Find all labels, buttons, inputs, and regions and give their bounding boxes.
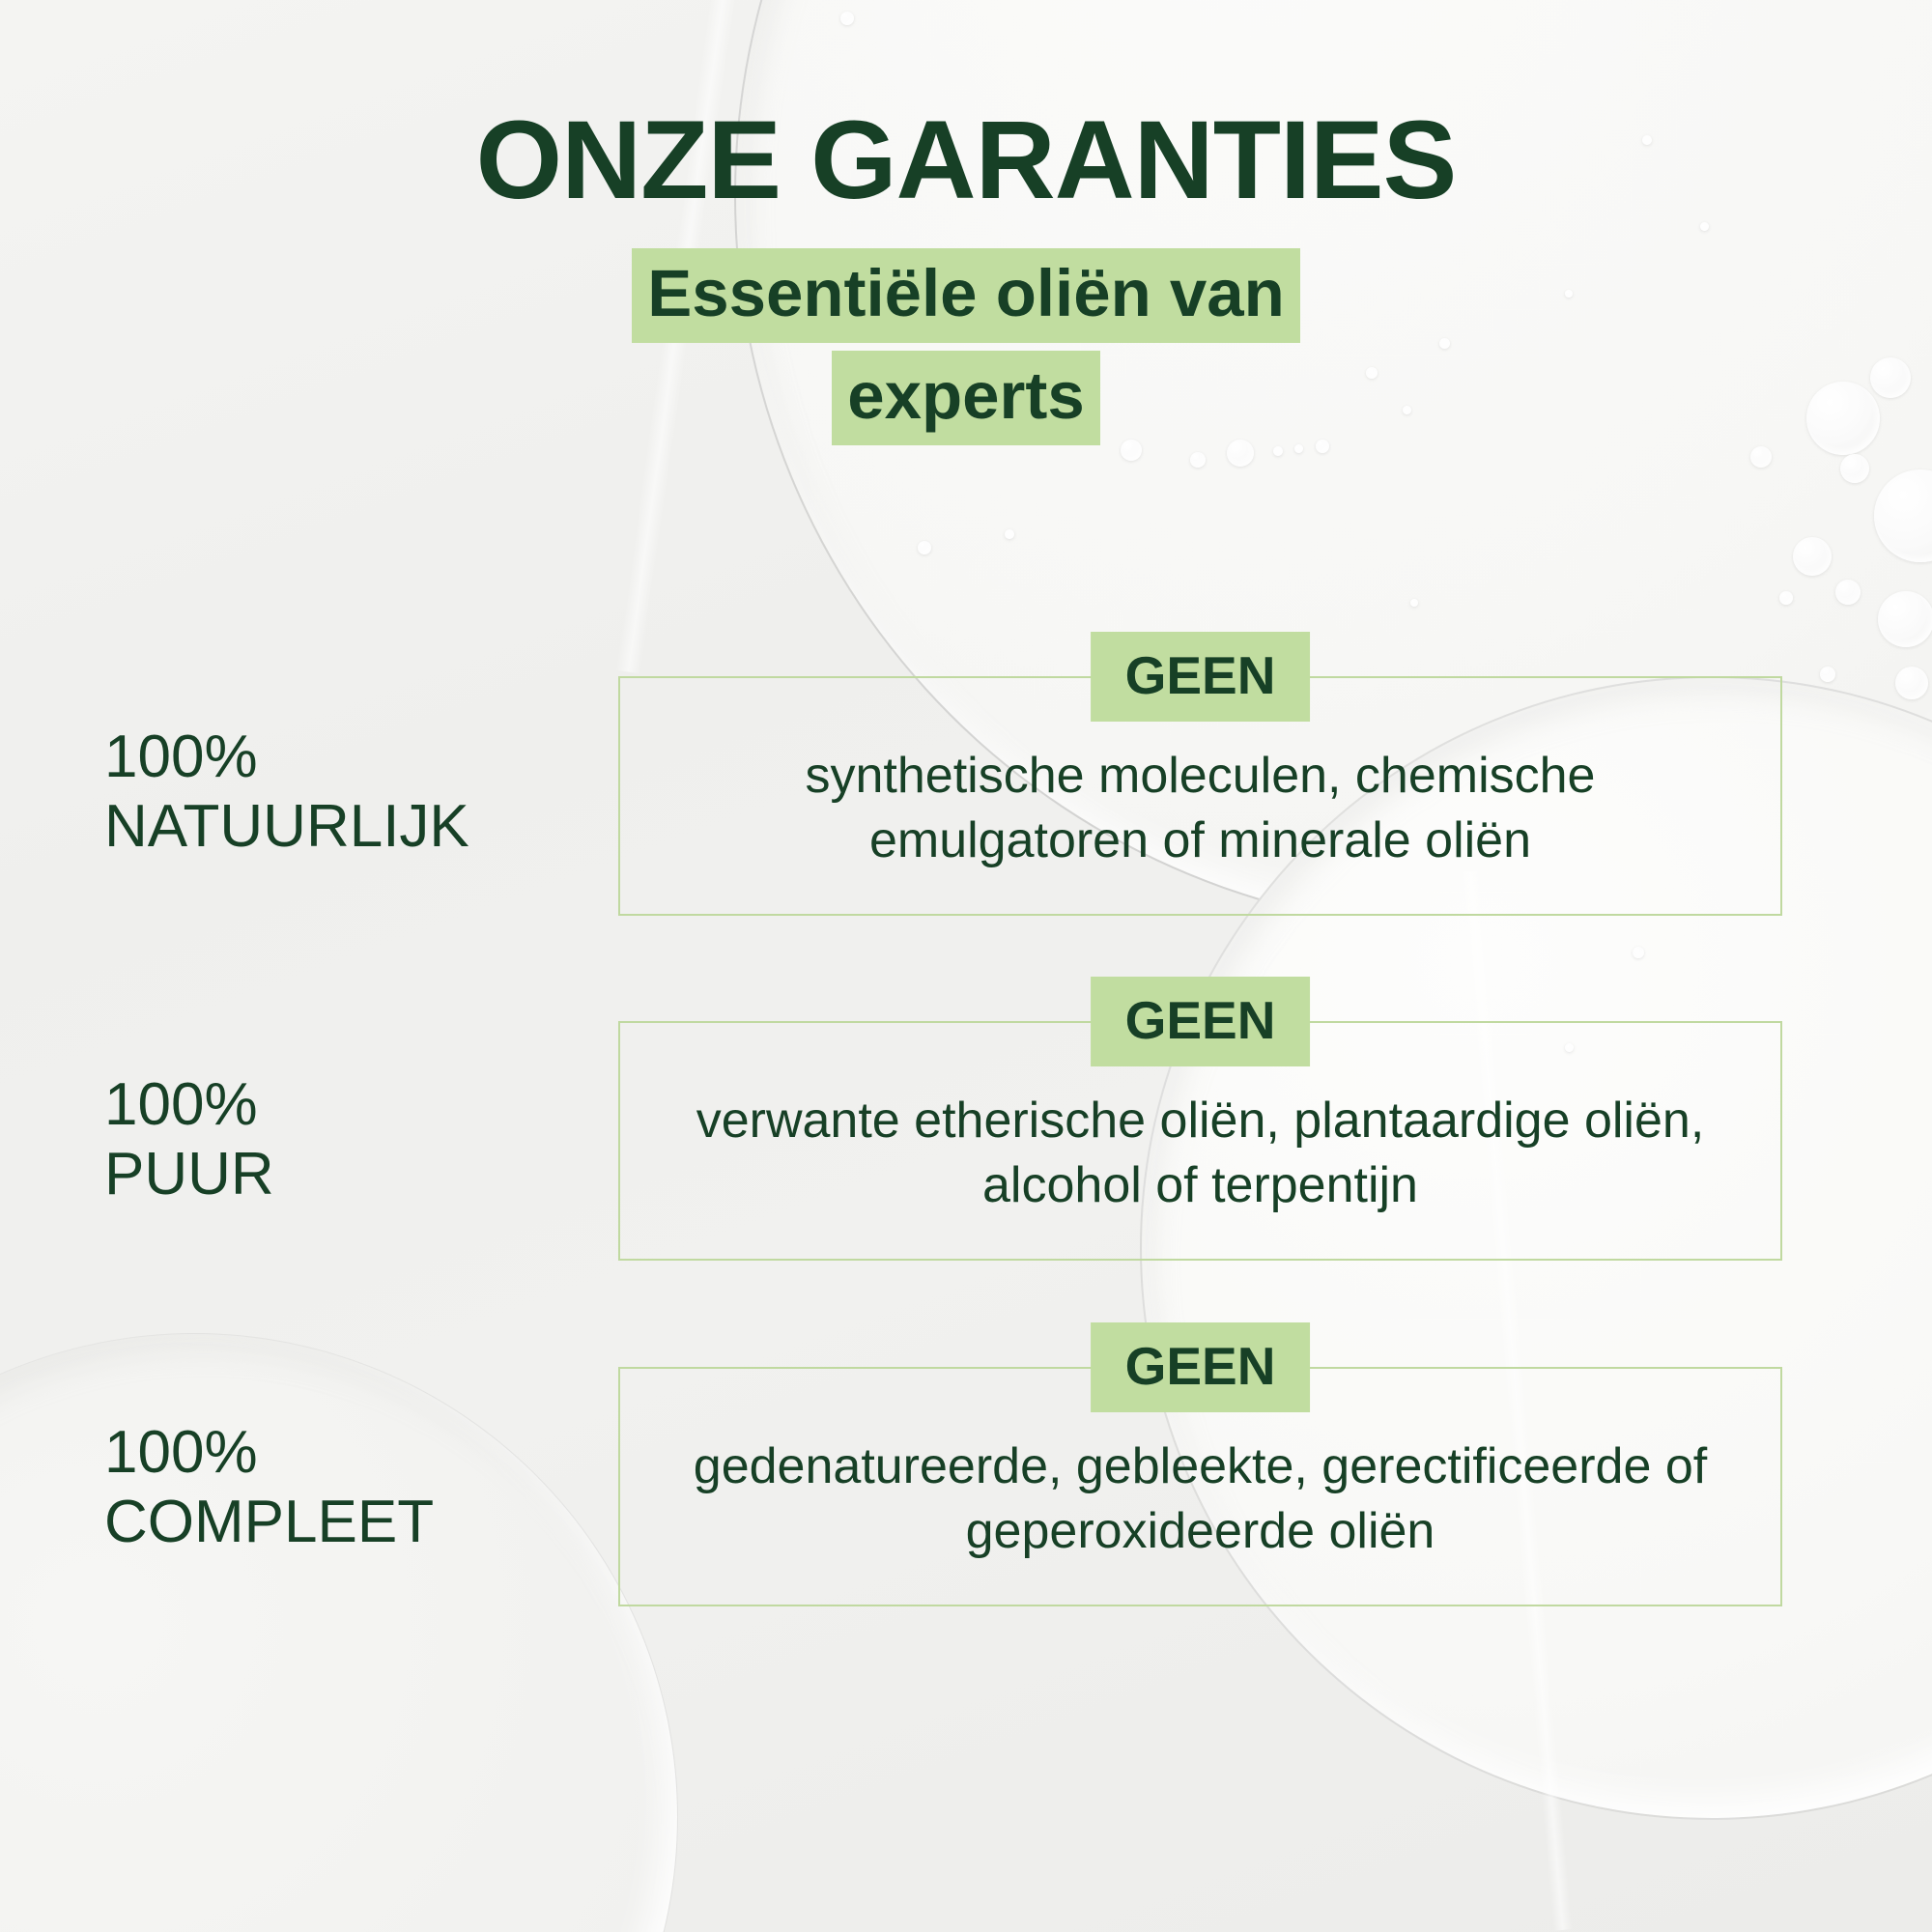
poster-header: ONZE GARANTIES Essentiële oliën van expe… [0,104,1932,449]
guarantee-word: COMPLEET [104,1488,618,1557]
bubble [1750,446,1772,468]
bubble [1840,454,1869,483]
guarantee-box: GEEN verwante etherische oliën, plantaar… [618,1021,1782,1261]
guarantee-word: NATUURLIJK [104,792,618,862]
guarantee-label: 100% PUUR [0,1070,618,1209]
subtitle-line-2: experts [832,351,1099,445]
guarantee-label: 100% COMPLEET [0,1418,618,1557]
page-title: ONZE GARANTIES [0,104,1932,217]
bubble [1793,537,1832,576]
guarantee-percent: 100% [104,1418,618,1488]
guarantee-percent: 100% [104,723,618,792]
status-badge: GEEN [1091,632,1311,722]
guarantee-label: 100% NATUURLIJK [0,723,618,862]
guarantee-row: 100% COMPLEET GEEN gedenatureerde, geble… [0,1314,1932,1662]
bubble [1874,469,1932,562]
bubble [1190,452,1206,468]
bubble [1835,580,1861,605]
guarantee-list: 100% NATUURLIJK GEEN synthetische molecu… [0,618,1932,1662]
status-badge: GEEN [1091,1322,1311,1412]
bubble [1410,599,1418,607]
poster-canvas: ONZE GARANTIES Essentiële oliën van expe… [0,0,1932,1932]
guarantee-box: GEEN synthetische moleculen, chemische e… [618,676,1782,916]
guarantee-text: gedenatureerde, gebleekte, gerectificeer… [668,1435,1732,1563]
subtitle-line-1: Essentiële oliën van [632,248,1300,343]
bubble [1779,591,1793,605]
guarantee-row: 100% PUUR GEEN verwante etherische oliën… [0,966,1932,1314]
guarantee-text: verwante etherische oliën, plantaardige … [668,1089,1732,1217]
bubble [918,541,931,554]
guarantee-word: PUUR [104,1140,618,1209]
guarantee-row: 100% NATUURLIJK GEEN synthetische molecu… [0,618,1932,966]
guarantee-percent: 100% [104,1070,618,1140]
status-badge: GEEN [1091,977,1311,1066]
bubble [840,12,854,25]
subtitle: Essentiële oliën van experts [0,244,1932,448]
guarantee-box: GEEN gedenatureerde, gebleekte, gerectif… [618,1367,1782,1606]
guarantee-text: synthetische moleculen, chemische emulga… [668,744,1732,872]
bubble [1005,529,1014,539]
